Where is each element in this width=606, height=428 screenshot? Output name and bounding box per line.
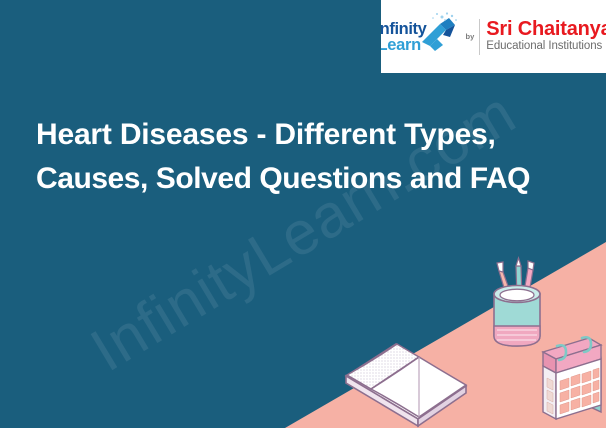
infinity-arrow-icon <box>416 11 462 57</box>
page-title-line-2: Causes, Solved Questions and FAQ <box>36 157 588 201</box>
partner-tagline: Educational Institutions <box>486 40 606 54</box>
thumbnail-canvas: InfinityLearn.com <box>0 0 606 428</box>
page-title: Heart Diseases - Different Types, Causes… <box>36 113 588 201</box>
infinity-learn-logo: Infinity Learn <box>381 12 462 62</box>
pencil-pink-left <box>497 262 513 301</box>
brand-logo-card[interactable]: Infinity Learn by <box>381 0 606 73</box>
logo-by-label: by <box>466 33 475 41</box>
page-title-line-1: Heart Diseases - Different Types, <box>36 113 588 157</box>
partner-name: Sri Chaitanya <box>486 19 606 40</box>
sri-chaitanya-logo: Sri Chaitanya Educational Institutions <box>484 19 606 54</box>
logo-connector: by <box>466 15 481 59</box>
logo-divider <box>479 19 480 55</box>
